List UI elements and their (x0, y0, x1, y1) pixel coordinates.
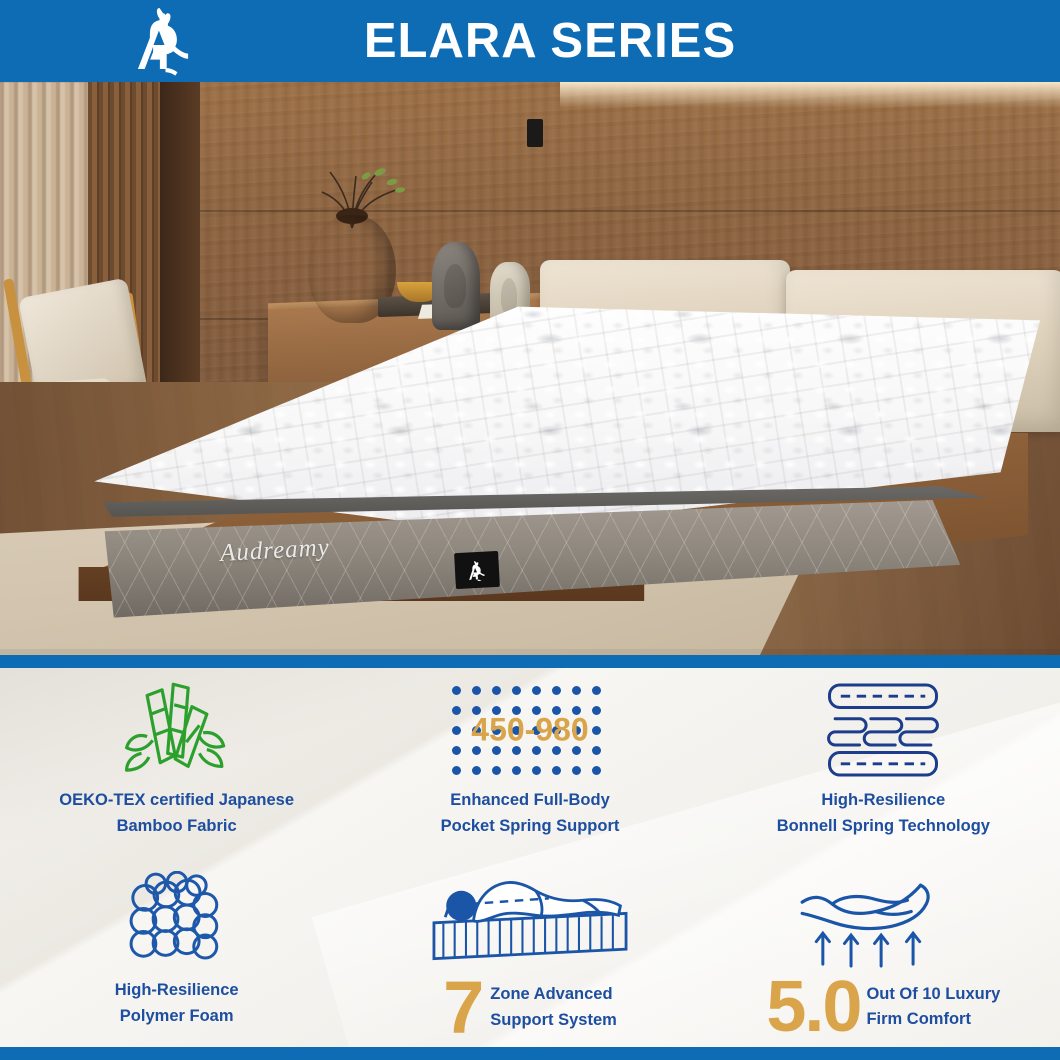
feature-firmness-caption: 5.0 Out Of 10 Luxury Firm Comfort (766, 974, 1000, 1040)
spring-count-badge: 450-980 (471, 712, 588, 749)
feature-bamboo: OEKO-TEX certified Japanese Bamboo Fabri… (0, 668, 353, 858)
sleeper-on-zoned-mattress-icon (417, 866, 643, 974)
spring-dot (532, 766, 541, 775)
spring-dot (452, 746, 461, 755)
firmness-score-number: 5.0 (766, 974, 860, 1040)
feature-pocket-spring-caption: Enhanced Full-Body Pocket Spring Support (441, 788, 620, 839)
spring-dot (452, 686, 461, 695)
spring-dot (572, 766, 581, 775)
spring-dot (592, 686, 601, 695)
divider-bar-top (0, 655, 1060, 668)
bonnell-spring-icon (822, 676, 944, 784)
mattress-diamond-quilt (77, 500, 997, 620)
feature-seven-zone-caption: 7 Zone Advanced Support System (443, 974, 617, 1042)
spring-dot (552, 766, 561, 775)
feature-bamboo-caption: OEKO-TEX certified Japanese Bamboo Fabri… (59, 788, 294, 839)
hero-product-photo: Audreamy (0, 82, 1060, 655)
zone-count-number: 7 (443, 974, 484, 1042)
feature-firmness: 5.0 Out Of 10 Luxury Firm Comfort (707, 858, 1060, 1047)
feature-bonnell-spring: High-Resilience Bonnell Spring Technolog… (707, 668, 1060, 858)
bamboo-stalks-icon (121, 676, 233, 784)
firmness-hand-with-arrows-icon (789, 866, 977, 974)
feature-bonnell-caption: High-Resilience Bonnell Spring Technolog… (777, 788, 990, 839)
page-title: ELARA SERIES (0, 0, 1060, 82)
spring-dot (452, 766, 461, 775)
spring-dot (592, 766, 601, 775)
spring-dot (452, 706, 461, 715)
kangaroo-tag-icon (454, 551, 500, 589)
ceiling-light-glow (560, 82, 1060, 108)
spring-dot (512, 766, 521, 775)
feature-grid-section: OEKO-TEX certified Japanese Bamboo Fabri… (0, 668, 1060, 1047)
spring-dot (472, 686, 481, 695)
product-infographic: ELARA SERIES (0, 0, 1060, 1060)
spring-dot (452, 726, 461, 735)
spring-dot (592, 746, 601, 755)
feature-seven-zone: 7 Zone Advanced Support System (353, 858, 706, 1047)
feature-pocket-spring: 450-980 Enhanced Full-Body Pocket Spring… (353, 668, 706, 858)
header-banner: ELARA SERIES (0, 0, 1060, 82)
mattress: Audreamy (55, 302, 1040, 632)
spring-dot (492, 766, 501, 775)
spring-dot (512, 686, 521, 695)
spring-dot (532, 686, 541, 695)
spring-dot (572, 686, 581, 695)
wall-switch (527, 119, 543, 147)
spring-dot (492, 686, 501, 695)
pocket-spring-dot-grid-icon: 450-980 (450, 676, 610, 784)
divider-bar-bottom (0, 1047, 1060, 1060)
spring-dot (592, 706, 601, 715)
spring-dot (552, 686, 561, 695)
polymer-foam-cells-icon (124, 866, 230, 974)
spring-dot (472, 766, 481, 775)
feature-polymer-foam: High-Resilience Polymer Foam (0, 858, 353, 1047)
feature-foam-caption: High-Resilience Polymer Foam (115, 978, 239, 1029)
spring-dot (592, 726, 601, 735)
